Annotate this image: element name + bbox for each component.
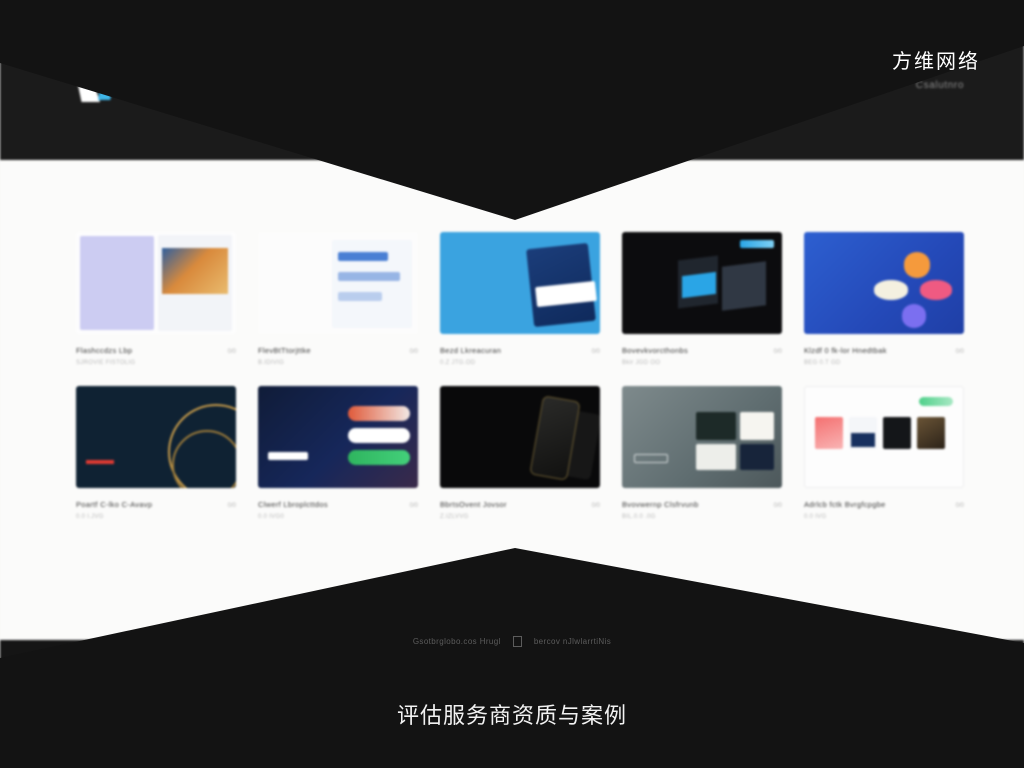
case-title: Bvovwernp Clsfrvunb [622,500,699,509]
case-subtitle: 0.0 I.JVG [76,514,236,520]
case-card[interactable]: Adrlcb fctk Bvrgfcpgbe 0/0 0.0 IVG [804,386,964,520]
nav-item-3[interactable]: Csalutnro [916,80,964,91]
case-card[interactable]: Bezd Lkreacuran 0/0 0.Z JTG.OD [440,232,600,366]
dark-dashboard-thumb [622,232,782,334]
case-card[interactable]: Poartf C-lko C-Avavp 0/0 0.0 I.JVG [76,386,236,520]
case-title: Poartf C-lko C-Avavp [76,500,152,509]
case-title: Flashccdzs Lbp [76,346,132,355]
slide-caption: 评估服务商资质与案例 [0,698,1024,730]
navy-pills-thumb [258,386,418,488]
footer-left-text: Gsotbrglobo.cos Hrugl [413,637,501,646]
case-subtitle: BEG 0.T GD [804,360,964,366]
lavender-doc-thumb [76,232,236,334]
case-subtitle: BIL.0.0 .0G [622,514,782,520]
case-badge: 0/0 [592,503,600,509]
case-subtitle: 0.0 IVG0 [258,514,418,520]
case-title: Clwerf Lbroplcttdos [258,500,328,509]
case-badge: 0/0 [410,349,418,355]
case-badge: 0/0 [956,349,964,355]
case-card[interactable]: Klzdf 0 fk-lor Hnedtbak 0/0 BEG 0.T GD [804,232,964,366]
grey-grid-thumb [622,386,782,488]
case-subtitle: 0.Z JTG.OD [440,360,600,366]
white-thumbs-thumb [804,386,964,488]
case-badge: 0/0 [774,349,782,355]
white-form-thumb [258,232,418,334]
case-badge: 0/0 [592,349,600,355]
blue-blobs-thumb [804,232,964,334]
case-badge: 0/0 [228,503,236,509]
case-card[interactable]: Bovevkvorcthonbs 0/0 Bkir JGD OO [622,232,782,366]
case-card[interactable]: Flashccdzs Lbp 0/0 SJROVIE FISTOLIG [76,232,236,366]
case-badge: 0/0 [956,503,964,509]
case-title: Bovevkvorcthonbs [622,346,688,355]
black-phone-thumb [440,386,600,488]
watermark: 方维网络 [892,45,980,74]
case-subtitle: 0.0 IVG [804,514,964,520]
case-badge: 0/0 [410,503,418,509]
book-icon [513,636,522,647]
case-subtitle: B.IDIVIG [258,360,418,366]
footer-right-text: bercov nJlwlarrtiNis [534,637,611,646]
slide-stage: Prosssiance Webile conoong. Casis集 frrun… [0,0,1024,768]
case-subtitle: SJROVIE FISTOLIG [76,360,236,366]
case-card[interactable]: BbrtsOvent Jovsor 0/0 Z.IZLVVG [440,386,600,520]
case-title: FlevBtTtorjttke [258,346,311,355]
case-grid: Flashccdzs Lbp 0/0 SJROVIE FISTOLIG Flev… [76,232,956,520]
case-card[interactable]: Bvovwernp Clsfrvunb 0/0 BIL.0.0 .0G [622,386,782,520]
case-title: Klzdf 0 fk-lor Hnedtbak [804,346,887,355]
case-title: Bezd Lkreacuran [440,346,501,355]
case-title: BbrtsOvent Jovsor [440,500,507,509]
footer-meta: Gsotbrglobo.cos Hrugl bercov nJlwlarrtiN… [0,636,1024,647]
case-subtitle: Z.IZLVVG [440,514,600,520]
case-subtitle: Bkir JGD OO [622,360,782,366]
case-badge: 0/0 [228,349,236,355]
case-card[interactable]: FlevBtTtorjttke 0/0 B.IDIVIG [258,232,418,366]
case-badge: 0/0 [774,503,782,509]
navy-gold-arc-thumb [76,386,236,488]
blue-device-thumb [440,232,600,334]
case-title: Adrlcb fctk Bvrgfcpgbe [804,500,886,509]
case-card[interactable]: Clwerf Lbroplcttdos 0/0 0.0 IVG0 [258,386,418,520]
